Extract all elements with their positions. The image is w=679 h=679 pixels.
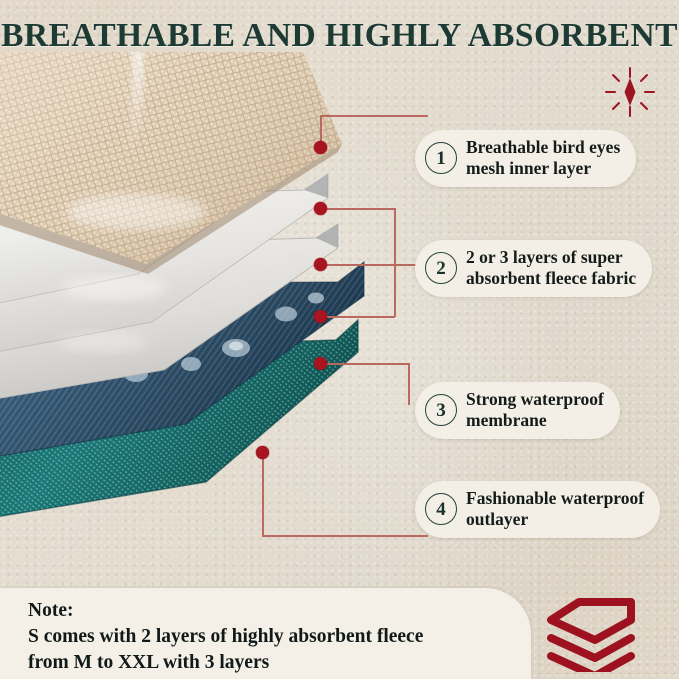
callout-4-line2: outlayer <box>466 509 644 530</box>
connector-2-mid <box>320 264 430 266</box>
connector-3-vertical <box>408 363 410 405</box>
connector-4-horizontal <box>262 535 428 537</box>
connector-2-top <box>320 208 395 210</box>
connector-2-vertical <box>394 208 396 317</box>
callout-3[interactable]: 3 Strong waterproof membrane <box>415 382 620 439</box>
note-text: Note: S comes with 2 layers of highly ab… <box>28 598 423 676</box>
note-line2: from M to XXL with 3 layers <box>28 650 423 676</box>
sparkle-icon <box>604 66 656 118</box>
callout-2[interactable]: 2 2 or 3 layers of super absorbent fleec… <box>415 240 652 297</box>
connector-dot-2a <box>314 202 327 215</box>
page-title: BREATHABLE AND HIGHLY ABSORBENT <box>0 17 679 55</box>
callout-3-text: Strong waterproof membrane <box>466 389 604 432</box>
callout-2-text: 2 or 3 layers of super absorbent fleece … <box>466 247 636 290</box>
callout-2-number: 2 <box>425 252 457 284</box>
callout-3-line2: membrane <box>466 410 604 431</box>
connector-dot-2b <box>314 258 327 271</box>
note-panel: Note: S comes with 2 layers of highly ab… <box>0 588 531 679</box>
callout-2-line1: 2 or 3 layers of super <box>466 247 636 268</box>
note-heading: Note: <box>28 598 423 624</box>
connector-1-horizontal <box>320 115 428 117</box>
connector-dot-4 <box>256 446 269 459</box>
layers-stack-icon <box>545 594 645 672</box>
callout-4-text: Fashionable waterproof outlayer <box>466 488 644 531</box>
callout-1-line1: Breathable bird eyes <box>466 137 620 158</box>
connector-3-horizontal <box>320 363 409 365</box>
callout-2-line2: absorbent fleece fabric <box>466 268 636 289</box>
callout-4-number: 4 <box>425 493 457 525</box>
connector-dot-3 <box>314 357 327 370</box>
callout-4[interactable]: 4 Fashionable waterproof outlayer <box>415 481 660 538</box>
connector-dot-2c <box>314 310 327 323</box>
connector-4-vertical <box>262 452 264 536</box>
connector-dot-1 <box>314 141 327 154</box>
callout-3-number: 3 <box>425 394 457 426</box>
callout-1-text: Breathable bird eyes mesh inner layer <box>466 137 620 180</box>
callout-3-line1: Strong waterproof <box>466 389 604 410</box>
callout-1-number: 1 <box>425 142 457 174</box>
infographic-canvas: BREATHABLE AND HIGHLY ABSORBENT <box>0 0 679 679</box>
callout-1[interactable]: 1 Breathable bird eyes mesh inner layer <box>415 130 636 187</box>
callout-4-line1: Fashionable waterproof <box>466 488 644 509</box>
note-line1: S comes with 2 layers of highly absorben… <box>28 624 423 650</box>
layered-fabric-cutaway <box>0 52 406 522</box>
callout-1-line2: mesh inner layer <box>466 158 620 179</box>
connector-2-bottom <box>320 316 395 318</box>
